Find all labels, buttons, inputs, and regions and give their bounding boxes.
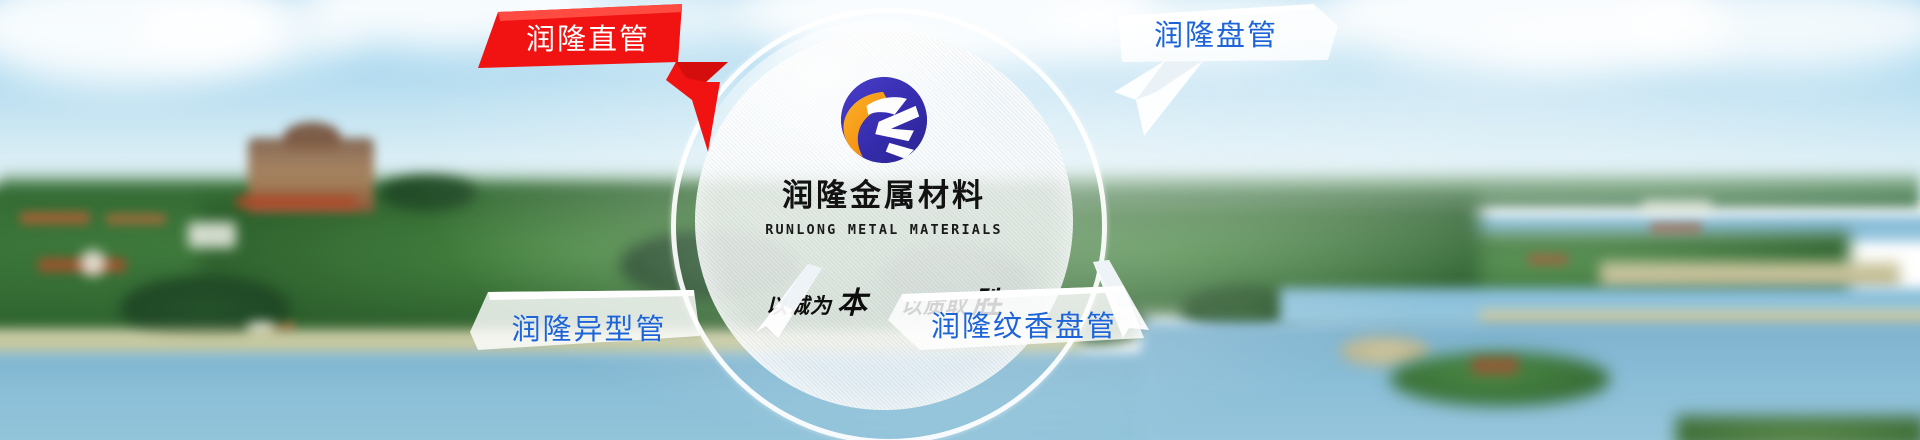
brand-name-cn: 润隆金属材料	[782, 170, 986, 215]
callout-straight-pipe-label: 润隆直管	[526, 16, 650, 58]
foreground-grass	[1676, 416, 1920, 440]
rooftop	[20, 212, 90, 224]
rooftop	[236, 196, 356, 208]
tree-cluster	[380, 176, 476, 210]
rooftop	[1528, 254, 1568, 265]
right-sandbank	[1600, 262, 1900, 288]
hero-banner: 润隆金属材料 RUNLONG METAL MATERIALS 以诚为 本 以质取…	[0, 0, 1920, 440]
pointer-coil-pipe	[1096, 56, 1216, 166]
building	[80, 250, 106, 276]
callout-special-pipe-label: 润隆异型管	[511, 306, 666, 348]
rooftop	[1472, 358, 1518, 374]
brand-name-en: RUNLONG METAL MATERIALS	[765, 222, 1003, 238]
cloud	[1480, 10, 1740, 70]
callout-straight-pipe[interactable]: 润隆直管	[478, 4, 682, 70]
runlong-swirl-logo-icon	[840, 76, 928, 164]
rooftop	[106, 214, 166, 224]
rooftop	[1650, 222, 1702, 234]
callout-coil-pipe-label: 润隆盘管	[1154, 12, 1278, 54]
building	[188, 222, 236, 248]
callout-textured-coil-label: 润隆纹香盘管	[931, 303, 1117, 345]
pointer-straight-pipe	[664, 60, 784, 170]
callout-textured-coil[interactable]: 润隆纹香盘管	[888, 284, 1148, 352]
callout-special-pipe[interactable]: 润隆异型管	[470, 288, 700, 354]
building	[1642, 200, 1712, 214]
pointer-special-pipe	[750, 262, 880, 372]
callout-coil-pipe[interactable]: 润隆盘管	[1118, 4, 1338, 66]
